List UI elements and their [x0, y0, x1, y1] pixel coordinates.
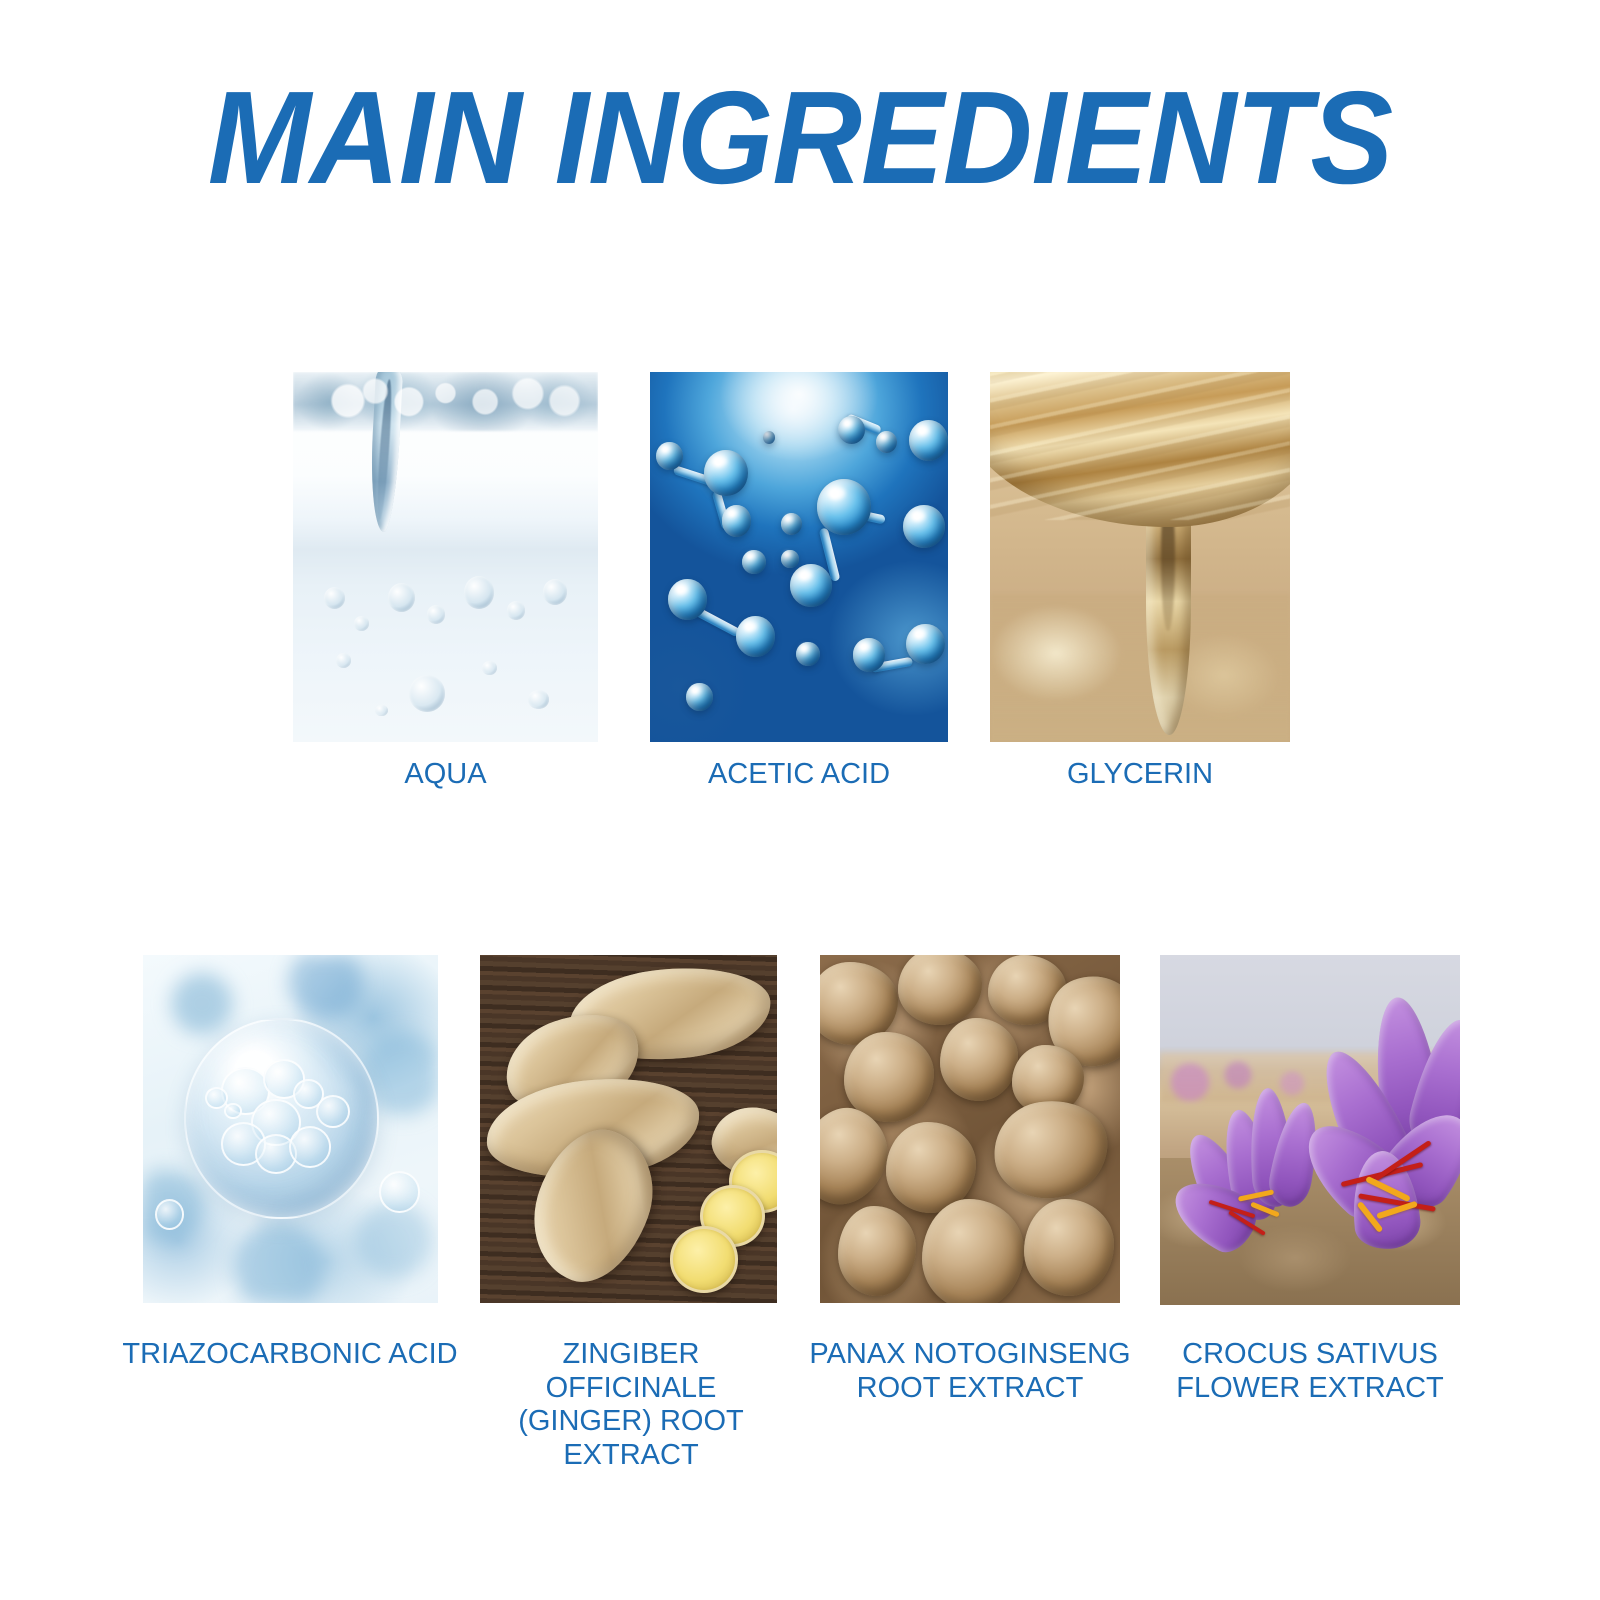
inner-bubble [316, 1095, 350, 1129]
molecule-atom [781, 550, 799, 569]
molecule-atom [742, 550, 766, 574]
ingredient-image-aqua [293, 372, 598, 742]
molecule-atom [686, 683, 713, 711]
ginger-slice [670, 1226, 738, 1292]
bubble [464, 576, 495, 609]
ingredient-label-panax-notoginseng: PANAX NOTOGINSENG ROOT EXTRACT [790, 1338, 1150, 1405]
notoginseng-root [898, 955, 982, 1025]
ingredients-infographic: MAIN INGREDIENTS AQUA [0, 0, 1600, 1600]
main-bubble [184, 1018, 379, 1220]
bubble [482, 661, 497, 676]
molecule-atom [906, 624, 945, 665]
notoginseng-root [838, 1206, 916, 1296]
molecule-atom [909, 420, 948, 461]
molecule-atom [722, 505, 752, 536]
ingredient-image-panax-notoginseng [820, 955, 1120, 1303]
ingredient-image-crocus-sativus [1160, 955, 1460, 1305]
ingredient-label-triazocarbonic-acid: TRIAZOCARBONIC ACID [75, 1338, 505, 1372]
bubble [375, 705, 387, 716]
molecule-atom [668, 579, 707, 620]
ingredient-image-glycerin [990, 372, 1290, 742]
glycerin-pool [990, 594, 1290, 742]
molecule-atom [903, 505, 945, 548]
bubble [427, 605, 445, 624]
ingredient-label-glycerin: GLYCERIN [990, 758, 1290, 792]
bubble [543, 579, 567, 605]
molecule-atom [781, 513, 802, 535]
glycerin-highlights [990, 372, 1290, 520]
molecule-atom [796, 642, 820, 666]
water-foam [293, 372, 598, 420]
notoginseng-root [1024, 1199, 1114, 1296]
side-bubble [155, 1199, 185, 1230]
ingredient-label-aqua: AQUA [293, 758, 598, 792]
ingredient-image-ginger [480, 955, 777, 1303]
bubble [324, 587, 345, 609]
bubble [354, 616, 369, 631]
side-bubble [379, 1171, 420, 1213]
ingredient-label-acetic-acid: ACETIC ACID [636, 758, 962, 792]
molecule-atom [838, 416, 865, 444]
bubble [388, 583, 415, 613]
molecule-atom [704, 450, 749, 496]
molecule-atom [790, 564, 832, 607]
notoginseng-root [988, 1094, 1114, 1206]
ingredient-label-ginger: ZINGIBER OFFICINALE (GINGER) ROOT EXTRAC… [500, 1338, 762, 1473]
bubble [336, 653, 351, 668]
bubble [507, 601, 525, 620]
molecule-atom [853, 638, 886, 671]
ingredient-image-triazocarbonic-acid [143, 955, 438, 1303]
notoginseng-root [940, 1018, 1018, 1102]
bubble [528, 690, 549, 709]
ingredient-label-crocus-sativus: CROCUS SATIVUS FLOWER EXTRACT [1160, 1338, 1460, 1405]
molecule-atom [736, 616, 775, 657]
page-title: MAIN INGREDIENTS [48, 72, 1552, 204]
ingredient-image-acetic-acid [650, 372, 948, 742]
bubble [409, 675, 446, 712]
inner-bubble [289, 1126, 331, 1168]
molecule-atom [656, 442, 683, 470]
notoginseng-root [922, 1199, 1024, 1303]
molecule-atom [817, 479, 871, 535]
notoginseng-root [844, 1032, 934, 1122]
inner-bubble [224, 1103, 241, 1119]
